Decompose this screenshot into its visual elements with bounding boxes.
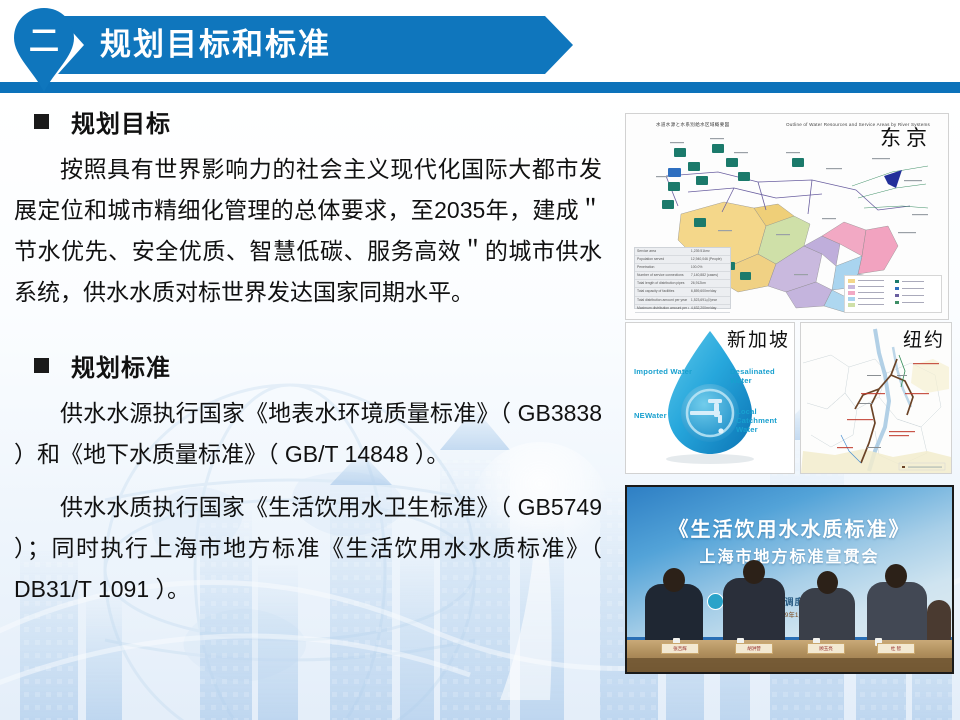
section-heading-row: 规划目标 xyxy=(0,104,620,139)
singapore-overlay-label: 新加坡 xyxy=(727,331,790,350)
nameplate: 顾玉亮 xyxy=(807,643,845,654)
conference-photo: 《生活饮用水水质标准》 上海市地方标准宣贯会 上海市供水调度监测中心 2019年… xyxy=(625,485,954,674)
panelist xyxy=(723,578,785,640)
stat-label: Population served xyxy=(635,256,689,263)
section-heading-row: 规划标准 xyxy=(0,348,620,383)
tokyo-map-statistics-table: Service area1,239.51km² Population serve… xyxy=(634,247,731,309)
section-planning-goal: 规划目标 按照具有世界影响力的社会主义现代化国际大都市发展定位和城市精细化管理的… xyxy=(0,104,620,313)
table-row: Total length of distribution pipes26,912… xyxy=(635,280,730,288)
panelist-head xyxy=(885,564,907,588)
slide: 规划目标和标准 二 规划目标 按照具有世界影响力的社会主义现代化国际大都市发展定… xyxy=(0,0,960,720)
stat-value: 6,859,600m³/day xyxy=(689,288,730,295)
nameplate-text: 顾玉亮 xyxy=(808,644,844,653)
section-paragraph: 供水水源执行国家《地表水环境质量标准》（ GB3838 ）和《地下水质量标准》（… xyxy=(14,393,602,475)
square-bullet-icon xyxy=(34,114,49,129)
stat-value: 12,940,046 (People) xyxy=(689,256,730,263)
stat-label: Penetration xyxy=(635,264,689,271)
section-paragraph: 按照具有世界影响力的社会主义现代化国际大都市发展定位和城市精细化管理的总体要求，… xyxy=(14,149,602,313)
panelist-head xyxy=(663,568,685,592)
singapore-tap-label: NEWater xyxy=(634,411,667,420)
stat-value: 7,140,882 (cases) xyxy=(689,272,730,279)
singapore-tap-label: Desalinated Water xyxy=(730,367,788,385)
page-title: 规划目标和标准 xyxy=(100,22,540,68)
nameplate-text: 杜 智 xyxy=(878,644,914,653)
section-planning-standard: 规划标准 供水水源执行国家《地表水环境质量标准》（ GB3838 ）和《地下水质… xyxy=(0,348,620,610)
panelist xyxy=(867,582,927,640)
panelist-head xyxy=(817,571,838,594)
stat-label: Total capacity of facilities xyxy=(635,288,689,295)
table-row: Service area1,239.51km² xyxy=(635,248,730,256)
nameplate: 胡洪营 xyxy=(735,643,773,654)
panelist xyxy=(645,584,703,640)
slide-body: 规划目标 按照具有世界影响力的社会主义现代化国际大都市发展定位和城市精细化管理的… xyxy=(0,96,620,720)
nameplate: 杜 智 xyxy=(877,643,915,654)
stat-label: Number of service connections xyxy=(635,272,689,279)
table-row: Total distribution amount per year1,523,… xyxy=(635,297,730,305)
table-skirt xyxy=(627,658,952,672)
singapore-tap-label: Local Catchment Water xyxy=(736,407,788,434)
singapore-tap-label: Imported Water xyxy=(634,367,692,376)
newyork-water-map-image: 纽约市配水系统 xyxy=(800,322,952,474)
panelist-head xyxy=(743,560,765,584)
tokyo-overlay-label: 东京 xyxy=(880,128,932,149)
stat-value: 1,523,691㎥/year xyxy=(689,297,730,304)
nameplate: 张吉辉 xyxy=(661,643,699,654)
section-title: 规划目标 xyxy=(71,104,171,139)
stat-label: Total length of distribution pipes xyxy=(635,280,689,287)
table-row: Number of service connections7,140,882 (… xyxy=(635,272,730,280)
tokyo-map-legend xyxy=(844,275,942,313)
stat-label: Total distribution amount per year xyxy=(635,297,689,304)
newyork-overlay-label: 纽约 xyxy=(903,331,945,350)
banner-title-line1: 《生活饮用水水质标准》 xyxy=(627,513,952,542)
tokyo-water-map-image: 水道水源と水系別給水区域概要図 Outline of Water Resourc… xyxy=(625,113,949,320)
table-row: Total capacity of facilities6,859,600m³/… xyxy=(635,288,730,296)
table-row: Population served12,940,046 (People) xyxy=(635,256,730,264)
stat-value: 26,912km xyxy=(689,280,730,287)
section-paragraph: 供水水质执行国家《生活饮用水卫生标准》（ GB5749 ）；同时执行上海市地方标… xyxy=(14,487,602,610)
section-number-label: 二 xyxy=(12,22,76,62)
image-column: 水道水源と水系別給水区域概要図 Outline of Water Resourc… xyxy=(622,0,960,720)
stat-value: 4,632,200m³/day xyxy=(689,305,730,312)
nameplate-text: 张吉辉 xyxy=(662,644,698,653)
singapore-water-sources-image: Imported Water Desalinated Water NEWater… xyxy=(625,322,795,474)
table-row: Penetration100.0% xyxy=(635,264,730,272)
square-bullet-icon xyxy=(34,358,49,373)
table-row: Maximum distribution amount per day4,632… xyxy=(635,305,730,313)
panelist xyxy=(799,588,855,640)
nameplate-text: 胡洪营 xyxy=(736,644,772,653)
section-title: 规划标准 xyxy=(71,348,171,383)
banner-title-line2: 上海市地方标准宣贯会 xyxy=(627,543,952,567)
stat-label: Service area xyxy=(635,248,689,255)
stat-label: Maximum distribution amount per day xyxy=(635,305,689,312)
stat-value: 100.0% xyxy=(689,264,730,271)
stat-value: 1,239.51km² xyxy=(689,248,730,255)
panelist xyxy=(927,600,951,640)
